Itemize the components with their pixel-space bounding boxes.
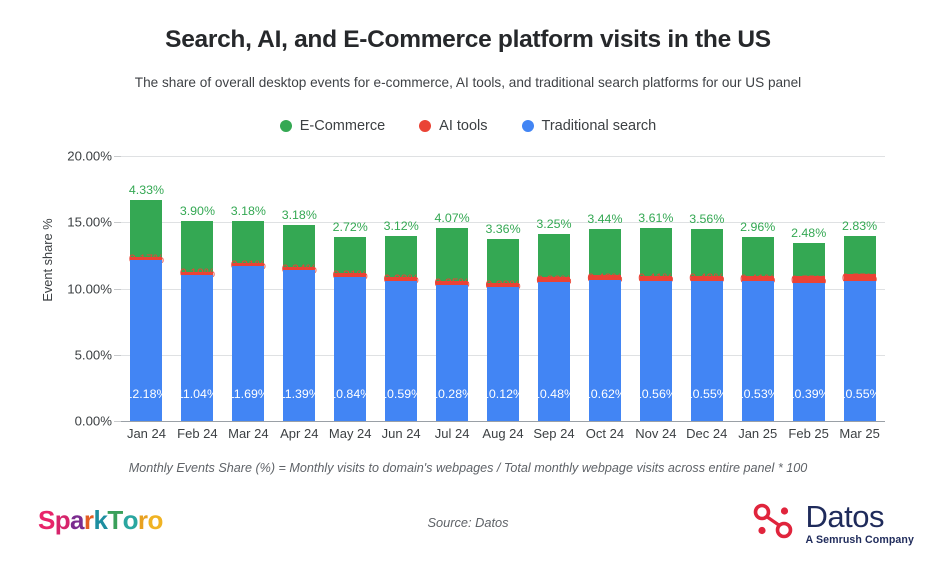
bar-segment-traditional-search[interactable]: 10.28%: [436, 285, 468, 421]
stacked-bar[interactable]: 2.72%0.31%10.84%: [334, 237, 366, 421]
bar-column[interactable]: 4.33%0.17%12.18%: [121, 156, 172, 421]
bar-label-ecommerce: 3.90%: [180, 204, 215, 218]
x-tick-label: Dec 24: [681, 426, 732, 441]
bar-label-ecommerce: 3.44%: [587, 212, 622, 226]
bar-segment-ecommerce[interactable]: 3.12%: [385, 236, 417, 277]
bar-segment-traditional-search[interactable]: 10.12%: [487, 287, 519, 421]
bar-segment-ecommerce[interactable]: 4.07%: [436, 228, 468, 282]
bar-label-ecommerce: 4.33%: [129, 183, 164, 197]
bar-segment-ecommerce[interactable]: 3.18%: [232, 221, 264, 263]
y-tick-label: 20.00%: [67, 149, 112, 164]
bar-segment-traditional-search[interactable]: 10.55%: [844, 281, 876, 421]
bar-segment-ecommerce[interactable]: 2.48%: [793, 243, 825, 276]
gridline: 0.00%: [121, 421, 885, 422]
y-tick-mark: [114, 289, 121, 290]
page-subtitle: The share of overall desktop events for …: [0, 75, 936, 90]
x-tick-label: Mar 25: [834, 426, 885, 441]
bar-column[interactable]: 3.90%0.19%11.04%: [172, 156, 223, 421]
x-tick-label: Apr 24: [274, 426, 325, 441]
stacked-bar[interactable]: 3.56%0.42%10.55%: [691, 229, 723, 422]
chart-legend: E-CommerceAI toolsTraditional search: [0, 118, 936, 134]
bar-label-ecommerce: 3.36%: [485, 222, 520, 236]
x-tick-label: Jul 24: [427, 426, 478, 441]
bar-segment-traditional-search[interactable]: 11.39%: [283, 270, 315, 421]
bar-column[interactable]: 3.61%0.41%10.56%: [630, 156, 681, 421]
x-tick-label: Jun 24: [376, 426, 427, 441]
bar-series-group: 4.33%0.17%12.18%3.90%0.19%11.04%3.18%0.2…: [121, 156, 885, 421]
bar-label-traditional-search: 11.39%: [279, 387, 320, 401]
page-footer: SparkToro Source: Datos Datos A Semrush …: [0, 495, 936, 565]
y-tick-label: 15.00%: [67, 215, 112, 230]
bar-column[interactable]: 3.18%0.24%11.39%: [274, 156, 325, 421]
bar-label-traditional-search: 10.28%: [431, 387, 473, 401]
x-tick-label: Sep 24: [529, 426, 580, 441]
legend-item-e-commerce[interactable]: E-Commerce: [280, 118, 385, 134]
bar-column[interactable]: 4.07%0.25%10.28%: [427, 156, 478, 421]
legend-item-ai-tools[interactable]: AI tools: [419, 118, 487, 134]
chart-page: Search, AI, and E-Commerce platform visi…: [0, 0, 936, 574]
legend-dot-icon: [419, 120, 431, 132]
legend-dot-icon: [522, 120, 534, 132]
y-tick-label: 5.00%: [75, 347, 112, 362]
bar-column[interactable]: 3.25%0.36%10.48%: [529, 156, 580, 421]
page-title: Search, AI, and E-Commerce platform visi…: [0, 26, 936, 54]
bar-segment-ecommerce[interactable]: 2.83%: [844, 236, 876, 273]
bar-segment-ecommerce[interactable]: 2.72%: [334, 237, 366, 273]
bar-segment-traditional-search[interactable]: 10.56%: [640, 281, 672, 421]
bar-segment-ecommerce[interactable]: 3.56%: [691, 229, 723, 276]
y-tick-label: 0.00%: [75, 414, 112, 429]
bar-segment-ecommerce[interactable]: 3.36%: [487, 239, 519, 284]
bar-segment-ecommerce[interactable]: 3.18%: [283, 225, 315, 267]
bar-segment-traditional-search[interactable]: 10.55%: [691, 281, 723, 421]
y-tick-mark: [114, 222, 121, 223]
bar-segment-traditional-search[interactable]: 10.39%: [793, 283, 825, 421]
legend-label: AI tools: [439, 118, 487, 134]
y-tick-mark: [114, 355, 121, 356]
stacked-bar[interactable]: 2.83%0.55%10.55%: [844, 236, 876, 421]
bar-segment-ecommerce[interactable]: 3.90%: [181, 221, 213, 273]
bar-label-ecommerce: 3.18%: [282, 208, 317, 222]
bar-segment-traditional-search[interactable]: 10.48%: [538, 282, 570, 421]
bar-column[interactable]: 3.44%0.42%10.62%: [579, 156, 630, 421]
legend-label: Traditional search: [542, 118, 657, 134]
bar-label-ecommerce: 3.18%: [231, 204, 266, 218]
stacked-bar[interactable]: 3.90%0.19%11.04%: [181, 221, 213, 421]
bar-segment-traditional-search[interactable]: 12.18%: [130, 260, 162, 421]
x-tick-label: Jan 25: [732, 426, 783, 441]
bar-label-traditional-search: 10.39%: [788, 387, 830, 401]
stacked-bar[interactable]: 3.36%0.28%10.12%: [487, 239, 519, 421]
legend-label: E-Commerce: [300, 118, 385, 134]
bar-segment-ecommerce[interactable]: 3.61%: [640, 228, 672, 276]
bar-segment-traditional-search[interactable]: 10.59%: [385, 281, 417, 421]
bar-segment-ecommerce[interactable]: 4.33%: [130, 200, 162, 257]
bar-column[interactable]: 2.83%0.55%10.55%: [834, 156, 885, 421]
bar-label-traditional-search: 11.04%: [177, 387, 218, 401]
bar-label-ecommerce: 2.83%: [842, 219, 877, 233]
datos-tagline: A Semrush Company: [806, 535, 914, 546]
bar-label-traditional-search: 10.59%: [380, 387, 422, 401]
x-tick-label: Aug 24: [478, 426, 529, 441]
legend-dot-icon: [280, 120, 292, 132]
bar-label-ecommerce: 3.12%: [384, 219, 419, 233]
datos-network-icon: [751, 501, 795, 546]
bar-column[interactable]: 3.56%0.42%10.55%: [681, 156, 732, 421]
x-axis-ticks: Jan 24Feb 24Mar 24Apr 24May 24Jun 24Jul …: [121, 426, 885, 441]
bar-label-ecommerce: 2.96%: [740, 220, 775, 234]
y-tick-label: 10.00%: [67, 281, 112, 296]
x-tick-label: Feb 25: [783, 426, 834, 441]
bar-label-traditional-search: 10.55%: [686, 387, 728, 401]
legend-item-traditional-search[interactable]: Traditional search: [522, 118, 657, 134]
stacked-bar[interactable]: 3.25%0.36%10.48%: [538, 234, 570, 421]
x-tick-label: May 24: [325, 426, 376, 441]
bar-segment-traditional-search[interactable]: 10.53%: [742, 281, 774, 421]
x-tick-label: Feb 24: [172, 426, 223, 441]
stacked-bar[interactable]: 3.61%0.41%10.56%: [640, 228, 672, 421]
bar-segment-ecommerce[interactable]: 3.25%: [538, 234, 570, 277]
bar-label-traditional-search: 10.55%: [839, 387, 881, 401]
bar-column[interactable]: 3.18%0.21%11.69%: [223, 156, 274, 421]
stacked-bar[interactable]: 2.48%0.55%10.39%: [793, 243, 825, 421]
stacked-bar[interactable]: 3.18%0.21%11.69%: [232, 221, 264, 421]
plot-area: Event share % 20.00%15.00%10.00%5.00%0.0…: [0, 148, 936, 448]
bar-segment-traditional-search[interactable]: 11.69%: [232, 266, 264, 421]
bar-segment-ecommerce[interactable]: 2.96%: [742, 237, 774, 276]
bar-label-traditional-search: 11.69%: [228, 387, 269, 401]
bar-segment-traditional-search[interactable]: 11.04%: [181, 275, 213, 421]
bar-column[interactable]: 3.12%0.29%10.59%: [376, 156, 427, 421]
plot-inner: 20.00%15.00%10.00%5.00%0.00% 4.33%0.17%1…: [121, 156, 885, 421]
bar-label-traditional-search: 10.12%: [482, 387, 524, 401]
x-tick-label: Oct 24: [579, 426, 630, 441]
stacked-bar[interactable]: 2.96%0.41%10.53%: [742, 237, 774, 421]
bar-label-ecommerce: 2.72%: [333, 220, 368, 234]
bar-segment-traditional-search[interactable]: 10.84%: [334, 277, 366, 421]
stacked-bar[interactable]: 3.18%0.24%11.39%: [283, 225, 315, 421]
bar-segment-ai-tools[interactable]: 0.55%: [844, 274, 876, 281]
bar-label-traditional-search: 10.62%: [584, 387, 626, 401]
x-tick-label: Mar 24: [223, 426, 274, 441]
bar-label-ecommerce: 2.48%: [791, 226, 826, 240]
stacked-bar[interactable]: 4.33%0.17%12.18%: [130, 200, 162, 421]
stacked-bar[interactable]: 3.12%0.29%10.59%: [385, 236, 417, 421]
bar-column[interactable]: 2.72%0.31%10.84%: [325, 156, 376, 421]
bar-label-ecommerce: 4.07%: [435, 211, 470, 225]
x-tick-label: Jan 24: [121, 426, 172, 441]
y-tick-mark: [114, 156, 121, 157]
bar-label-ecommerce: 3.56%: [689, 212, 724, 226]
bar-label-traditional-search: 10.84%: [329, 387, 371, 401]
bar-column[interactable]: 2.48%0.55%10.39%: [783, 156, 834, 421]
bar-label-ecommerce: 3.25%: [536, 217, 571, 231]
bar-label-traditional-search: 10.53%: [737, 387, 779, 401]
bar-column[interactable]: 3.36%0.28%10.12%: [478, 156, 529, 421]
datos-wordmark: Datos: [806, 501, 914, 532]
x-tick-label: Nov 24: [630, 426, 681, 441]
y-axis-label: Event share %: [40, 180, 55, 340]
bar-label-ecommerce: 3.61%: [638, 211, 673, 225]
bar-segment-ai-tools[interactable]: 0.55%: [793, 276, 825, 283]
bar-segment-ecommerce[interactable]: 3.44%: [589, 229, 621, 275]
y-tick-mark: [114, 421, 121, 422]
datos-logo[interactable]: Datos A Semrush Company: [751, 501, 914, 546]
chart-footnote: Monthly Events Share (%) = Monthly visit…: [0, 461, 936, 475]
stacked-bar[interactable]: 4.07%0.25%10.28%: [436, 228, 468, 421]
bar-label-traditional-search: 12.18%: [125, 387, 167, 401]
bar-label-traditional-search: 10.56%: [635, 387, 677, 401]
bar-column[interactable]: 2.96%0.41%10.53%: [732, 156, 783, 421]
stacked-bar[interactable]: 3.44%0.42%10.62%: [589, 229, 621, 421]
bar-label-traditional-search: 10.48%: [533, 387, 575, 401]
bar-segment-traditional-search[interactable]: 10.62%: [589, 280, 621, 421]
